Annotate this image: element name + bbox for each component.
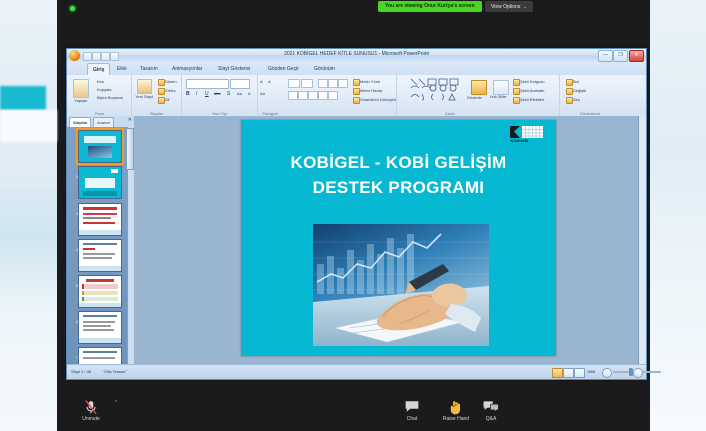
kosgeb-logo-icon: KOSGEB [509,125,545,143]
close-button[interactable]: ✕ [629,50,644,62]
viewing-screen-notice: You are viewing Onur Kurtya's screen [378,1,482,12]
slide-title-line1: KOBİGEL - KOBİ GELİŞİM [251,150,546,175]
zoom-top-bar: You are viewing Onur Kurtya's screen Vie… [57,0,650,16]
layout-icon[interactable] [158,79,165,86]
slide-editor-area: KOSGEB KOBİGEL - KOBİ GELİŞİM DESTEK PRO… [134,116,646,364]
convert-smartart-label[interactable]: SmartArt'a Dönüştür [360,97,396,102]
font-color-button[interactable]: A [248,91,251,96]
slides-pane-tabs: Slaytlar Anahat ✕ [67,116,134,127]
thumb-number: 1 [70,138,78,143]
increase-indent-icon[interactable] [328,79,338,88]
shape-effects-label[interactable]: Şekil Efektleri [520,97,544,102]
reading-view-button[interactable] [574,368,585,378]
strikethrough-button[interactable]: abc [214,91,220,96]
powerpoint-window: 2021 KOBİGEL HEDEF KİTLE SUNUSU1 - Micro… [66,48,647,380]
underline-button[interactable]: U [205,91,209,97]
shapes-gallery-icon[interactable] [409,77,467,103]
screen-share-indicator-icon [68,4,77,13]
thumb-number: 2 [70,174,78,179]
thumb-number: 4 [70,247,78,252]
editor-scrollbar[interactable] [638,116,646,364]
shape-outline-icon[interactable] [513,88,520,95]
change-case-button[interactable]: Aa [237,91,242,96]
font-size-select[interactable] [230,79,250,89]
shrink-font-button[interactable]: A [268,79,271,84]
shape-fill-label[interactable]: Şekil Dolgusu [520,79,544,84]
microphone-muted-icon [84,400,98,415]
slide-photo-business-chart[interactable] [313,224,489,346]
minimize-button[interactable]: — [598,50,613,62]
chat-icon [405,400,420,413]
shape-effects-icon[interactable] [513,97,520,104]
italic-button[interactable]: I [196,91,197,97]
slide-sorter-view-button[interactable] [563,368,574,378]
ribbon-group-slaytlar: Yeni Slayt Düzen Sıfırla Sil Slaytlar [132,75,182,116]
new-slide-icon[interactable] [137,79,152,94]
slide-counter: Slayt 1 / 49 [71,369,91,374]
clear-format-button: Aa [260,91,265,96]
slide-thumbnail-4[interactable] [78,239,122,272]
select-label[interactable]: Seç [573,97,580,102]
delete-icon[interactable] [158,97,165,104]
find-icon[interactable] [566,79,573,86]
view-options-label: View Options [491,4,520,10]
screenshot-root: You are viewing Onur Kurtya's screen Vie… [0,0,706,431]
normal-view-button[interactable] [552,368,563,378]
select-icon[interactable] [566,97,573,104]
svg-text:KOSGEB: KOSGEB [511,138,528,143]
grow-font-button[interactable]: A [260,79,263,84]
slides-pane-scrollbar-thumb[interactable] [126,128,134,170]
ribbon-tab-strip: Giriş Ekle Tasarım Animasyonlar Slayt Gö… [67,62,646,76]
cut-label[interactable]: Kes [97,79,104,84]
layout-label[interactable]: Düzen [165,79,177,84]
text-direction-label[interactable]: Metin Yönü [360,79,380,84]
arrange-label[interactable]: Düzenle [467,95,482,100]
tab-animasyonlar[interactable]: Animasyonlar [167,64,207,75]
paste-icon[interactable] [73,79,89,98]
bullets-icon[interactable] [288,79,300,88]
chat-label: Chat [390,416,434,422]
text-shadow-button[interactable]: S [227,91,230,97]
slide-thumbnail-5[interactable] [78,275,122,308]
slide-title-line2: DESTEK PROGRAMI [251,175,546,200]
chevron-down-icon: ⌄ [523,4,526,9]
powerpoint-status-bar: Slayt 1 / 49 "Ofis Teması" %66 [67,364,646,379]
delete-label[interactable]: Sil [165,97,169,102]
ribbon: Yapıştır Kes Kopyala Biçim Boyacısı Pano… [67,75,646,117]
slide-thumbnail-3[interactable] [78,203,122,236]
align-text-icon[interactable] [353,88,360,95]
zoom-control-bar: Unmute ^ Chat Raise Hand Q&A [57,392,650,431]
arrange-icon[interactable] [471,80,487,95]
ribbon-group-pano: Yapıştır Kes Kopyala Biçim Boyacısı Pano [68,75,132,116]
align-right-icon[interactable] [308,91,318,100]
slide-title: KOBİGEL - KOBİ GELİŞİM DESTEK PROGRAMI [251,150,546,200]
text-direction-icon[interactable] [353,79,360,86]
tab-gorunum[interactable]: Görünüm [309,64,340,75]
qa-label: Q&A [469,416,513,422]
theme-name: "Ofis Teması" [103,369,127,374]
find-label[interactable]: Bul [573,79,579,84]
restore-button[interactable]: ❐ [613,50,628,62]
zoom-level[interactable]: %66 [587,369,595,374]
shape-fill-icon[interactable] [513,79,520,86]
left-strip-white-band [0,110,57,142]
close-icon[interactable]: ✕ [128,117,132,123]
thumb-number: 7 [70,355,78,360]
ribbon-group-cizim: Düzenle Hızlı Stiller Şekil Dolgusu Şeki… [397,75,560,116]
ribbon-group-paragraf: A A Aa Metin Yönü Metni Hizala SmartArt'… [258,75,397,116]
decrease-indent-icon[interactable] [318,79,328,88]
slides-pane: Slaytlar Anahat ✕ 1 2 3 [67,116,135,364]
justify-icon[interactable] [318,91,328,100]
tab-tasarim[interactable]: Tasarım [135,64,163,75]
view-options-button[interactable]: View Options⌄ [485,1,533,12]
zoom-out-icon[interactable] [602,368,612,378]
numbering-icon[interactable] [301,79,313,88]
raise-hand-icon [450,400,463,415]
shape-outline-label[interactable]: Şekil Anahattı [520,88,544,93]
slide-thumbnail-1[interactable] [78,130,122,163]
reset-icon[interactable] [158,88,165,95]
pane-tab-anahat[interactable]: Anahat [93,117,114,127]
format-painter-label[interactable]: Biçim Boyacısı [97,95,123,100]
copy-label[interactable]: Kopyala [97,87,111,92]
left-strip-cyan-band [0,86,46,110]
zoom-in-icon[interactable] [633,368,643,378]
slide-thumbnail-2[interactable] [78,166,122,199]
replace-icon[interactable] [566,88,573,95]
powerpoint-title-text: 2021 KOBİGEL HEDEF KİTLE SUNUSU1 - Micro… [67,51,646,57]
current-slide[interactable]: KOSGEB KOBİGEL - KOBİ GELİŞİM DESTEK PRO… [241,120,556,356]
left-blurred-strip [0,0,57,431]
tab-ekle[interactable]: Ekle [112,64,132,75]
right-blurred-strip [650,0,706,431]
thumb-number: 6 [70,319,78,324]
replace-label[interactable]: Değiştir [573,88,587,93]
quick-styles-label[interactable]: Hızlı Stiller [490,95,507,99]
font-name-select[interactable] [186,79,229,89]
tab-slayt-gosterisi[interactable]: Slayt Gösterisi [213,64,255,75]
columns-icon[interactable] [328,91,338,100]
thumb-number: 5 [70,283,78,288]
line-spacing-icon[interactable] [338,79,348,88]
align-left-icon[interactable] [288,91,298,100]
unmute-label: Unmute [69,416,113,422]
reset-label[interactable]: Sıfırla [165,88,175,93]
quick-styles-icon[interactable] [493,80,509,95]
pane-tab-slaytlar[interactable]: Slaytlar [69,117,91,127]
align-center-icon[interactable] [298,91,308,100]
powerpoint-title-bar: 2021 KOBİGEL HEDEF KİTLE SUNUSU1 - Micro… [67,49,646,63]
ribbon-group-yazi-tipi: B I U abc S Aa A Yazı Tipi [182,75,258,116]
tab-gozden-gecir[interactable]: Gözden Geçir [263,64,304,75]
convert-smartart-icon[interactable] [353,97,360,104]
paste-label: Yapıştır [69,98,93,103]
new-slide-label: Yeni Slayt [132,94,156,99]
ribbon-group-duzenleme: Bul Değiştir Seç Düzenleme [560,75,620,116]
bold-button[interactable]: B [186,91,190,97]
align-text-label[interactable]: Metni Hizala [360,88,382,93]
qa-icon [483,400,499,413]
audio-options-caret[interactable]: ^ [112,400,120,406]
powerpoint-workspace: Slaytlar Anahat ✕ 1 2 3 [67,116,646,364]
thumb-number: 3 [70,211,78,216]
slide-thumbnail-6[interactable] [78,311,122,344]
